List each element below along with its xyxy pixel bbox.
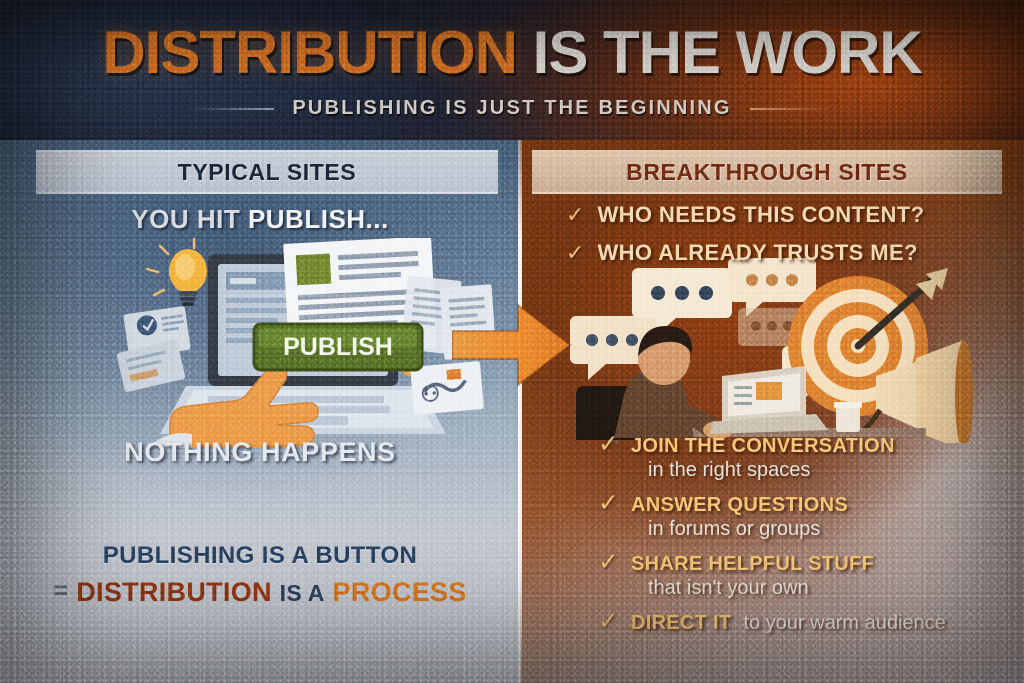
lightbulb-icon bbox=[147, 238, 207, 306]
panel-right-heading: BREAKTHROUGH SITES bbox=[532, 150, 1002, 194]
action-sub: in the right spaces bbox=[648, 459, 1018, 482]
equation-word-distribution: DISTRIBUTION bbox=[76, 577, 272, 607]
panel-divider bbox=[518, 140, 522, 683]
question-text: WHO ALREADY TRUSTS ME? bbox=[597, 240, 917, 266]
subtitle-rule-left bbox=[188, 108, 274, 110]
list-item: ✓ WHO ALREADY TRUSTS ME? bbox=[566, 240, 996, 266]
check-icon: ✓ bbox=[566, 242, 584, 264]
comparison-panels: ⚇ PUBLISH TYPICAL SITES bbox=[0, 140, 1024, 683]
equation-word-process: PROCESS bbox=[333, 577, 467, 607]
question-text: WHO NEEDS THIS CONTENT? bbox=[597, 202, 924, 228]
action-sub: in forums or groups bbox=[648, 518, 1018, 541]
equation-line-1: PUBLISHING IS A BUTTON bbox=[0, 542, 520, 570]
lead-emphasis: PUBLISH... bbox=[248, 204, 389, 234]
action-tail: to your warm audience bbox=[743, 612, 945, 635]
list-item: ✓ DIRECT IT to your warm audience bbox=[598, 609, 1018, 635]
check-icon: ✓ bbox=[598, 491, 619, 516]
title-part-distribution: DISTRIBUTION bbox=[102, 19, 517, 86]
action-head: JOIN THE CONVERSATION bbox=[631, 435, 895, 458]
publish-button-icon: PUBLISH bbox=[254, 324, 422, 370]
subtitle-rule-right bbox=[750, 108, 836, 110]
list-item: ✓ ANSWER QUESTIONS in forums or groups bbox=[598, 491, 1018, 541]
action-sub: that isn't your own bbox=[648, 577, 1018, 600]
title-part-is-the-work: IS THE WORK bbox=[533, 19, 922, 86]
subtitle-row: PUBLISHING IS JUST THE BEGINNING bbox=[0, 97, 1024, 120]
page-subtitle: PUBLISHING IS JUST THE BEGINNING bbox=[292, 97, 731, 120]
transition-arrow-icon bbox=[452, 299, 572, 391]
equation-block: PUBLISHING IS A BUTTON =DISTRIBUTION IS … bbox=[0, 542, 520, 608]
panel-breakthrough-sites: BREAKTHROUGH SITES ✓ WHO NEEDS THIS CONT… bbox=[520, 140, 1024, 683]
community-target-illustration bbox=[560, 258, 980, 443]
list-item: ✓ WHO NEEDS THIS CONTENT? bbox=[566, 202, 996, 228]
action-list: ✓ JOIN THE CONVERSATION in the right spa… bbox=[598, 432, 1018, 644]
action-head: ANSWER QUESTIONS bbox=[631, 494, 848, 517]
list-item: ✓ SHARE HELPFUL STUFF that isn't your ow… bbox=[598, 550, 1018, 600]
infographic-canvas: ⚇ PUBLISH TYPICAL SITES bbox=[0, 0, 1024, 683]
action-head: DIRECT IT bbox=[631, 612, 731, 635]
check-icon: ✓ bbox=[598, 609, 619, 634]
list-item: ✓ JOIN THE CONVERSATION in the right spa… bbox=[598, 432, 1018, 482]
check-icon: ✓ bbox=[598, 550, 619, 575]
title-banner: DISTRIBUTION IS THE WORK PUBLISHING IS J… bbox=[0, 0, 1024, 140]
panel-right-heading-text: BREAKTHROUGH SITES bbox=[626, 159, 908, 186]
page-title: DISTRIBUTION IS THE WORK bbox=[0, 23, 1024, 83]
laptop-publish-illustration: ⚇ PUBLISH bbox=[108, 238, 498, 448]
lead-text-left: YOU HIT PUBLISH... bbox=[0, 204, 520, 235]
action-head: SHARE HELPFUL STUFF bbox=[631, 553, 874, 576]
panel-left-heading-text: TYPICAL SITES bbox=[178, 159, 357, 186]
equation-equals-sign: = bbox=[53, 577, 68, 606]
publish-button-label: PUBLISH bbox=[283, 333, 393, 361]
check-icon: ✓ bbox=[566, 204, 584, 226]
equation-line-2: =DISTRIBUTION IS A PROCESS bbox=[0, 577, 520, 608]
panel-left-heading: TYPICAL SITES bbox=[36, 150, 498, 194]
equation-word-isa: IS A bbox=[280, 580, 325, 606]
question-list: ✓ WHO NEEDS THIS CONTENT? ✓ WHO ALREADY … bbox=[566, 202, 996, 278]
lead-prefix: YOU HIT bbox=[131, 204, 248, 234]
result-text-left: NOTHING HAPPENS bbox=[0, 437, 520, 468]
panel-typical-sites: ⚇ PUBLISH TYPICAL SITES bbox=[0, 140, 520, 683]
check-icon: ✓ bbox=[598, 432, 619, 457]
